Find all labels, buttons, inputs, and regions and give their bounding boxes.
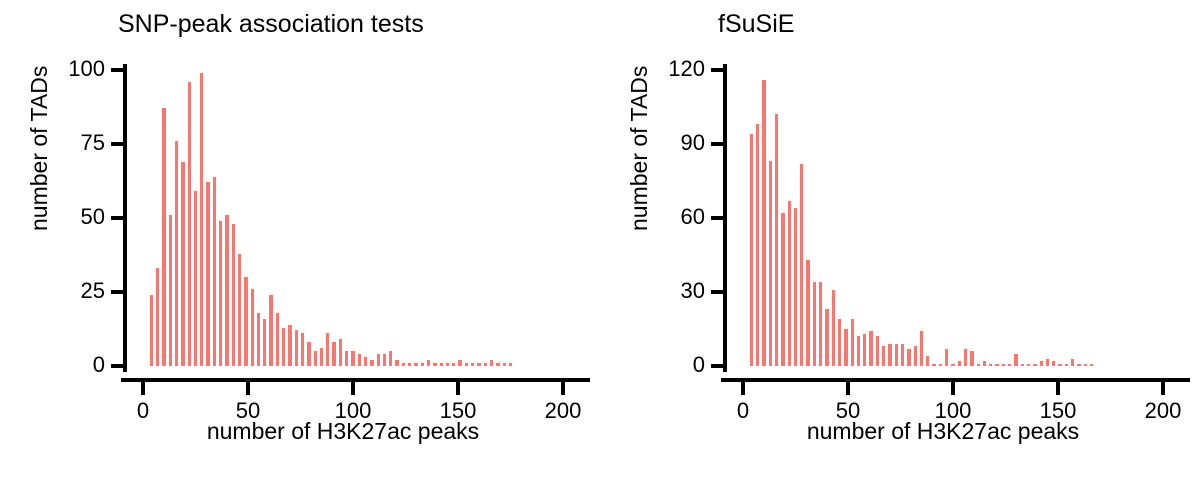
histogram-bar	[351, 351, 354, 366]
histogram-bar	[951, 364, 954, 366]
plot-area: 0306090120050100150200	[600, 0, 1200, 480]
y-axis-tick	[711, 216, 724, 220]
histogram-bar	[150, 295, 153, 366]
histogram-bar	[395, 360, 398, 366]
histogram-bar	[169, 215, 172, 366]
histogram-bar	[882, 346, 885, 366]
histogram-bar	[503, 363, 506, 366]
x-axis-tick-label: 0	[703, 400, 783, 422]
histogram-bar	[1084, 364, 1087, 366]
x-axis-tick-label: 50	[208, 400, 288, 422]
histogram-bar	[452, 363, 455, 366]
histogram-bar	[1033, 364, 1036, 366]
histogram-bar	[1021, 364, 1024, 366]
histogram-bar	[869, 331, 872, 366]
x-axis-tick-label: 100	[913, 400, 993, 422]
histogram-bar	[484, 363, 487, 366]
histogram-bar	[1058, 364, 1061, 366]
histogram-bar	[800, 164, 803, 366]
histogram-bar	[863, 334, 866, 366]
histogram-bar	[471, 363, 474, 366]
y-axis-tick	[711, 68, 724, 72]
x-axis-line	[121, 378, 590, 382]
y-axis-tick	[111, 68, 124, 72]
histogram-bar	[806, 260, 809, 366]
x-axis-tick	[351, 382, 355, 395]
x-axis-tick	[1056, 382, 1060, 395]
histogram-bar	[358, 354, 361, 366]
y-axis-tick-label: 120	[613, 58, 705, 80]
histogram-bar	[427, 360, 430, 366]
histogram-bar	[945, 349, 948, 366]
histogram-bar	[989, 364, 992, 366]
histogram-bar	[225, 215, 228, 366]
panel-snp-peak-association-tests: SNP-peak association tests number of TAD…	[0, 0, 600, 480]
histogram-bar	[1002, 364, 1005, 366]
histogram-bar	[408, 363, 411, 366]
histogram-bar	[939, 364, 942, 366]
histogram-bar	[1014, 354, 1017, 366]
histogram-bar	[219, 221, 222, 366]
x-axis-line	[721, 378, 1190, 382]
histogram-bar	[307, 342, 310, 366]
histogram-bar	[1065, 364, 1068, 366]
y-axis-tick-label: 0	[613, 354, 705, 376]
histogram-bar	[244, 277, 247, 366]
histogram-bar	[232, 224, 235, 366]
x-axis-tick	[456, 382, 460, 395]
histogram-bar	[251, 289, 254, 366]
y-axis-tick-label: 0	[13, 354, 105, 376]
histogram-bar	[458, 360, 461, 366]
histogram-bar	[964, 349, 967, 366]
x-axis-tick	[561, 382, 565, 395]
histogram-bar	[370, 360, 373, 366]
histogram-bar	[509, 363, 512, 366]
x-axis-tick-label: 200	[523, 400, 603, 422]
histogram-bar	[496, 363, 499, 366]
histogram-bar	[832, 290, 835, 366]
histogram-bar	[389, 351, 392, 366]
histogram-bar	[1008, 364, 1011, 366]
histogram-bar	[819, 282, 822, 366]
histogram-bar	[206, 182, 209, 366]
y-axis-tick-label: 60	[613, 206, 705, 228]
histogram-bar	[769, 161, 772, 366]
x-axis-tick	[141, 382, 145, 395]
y-axis-tick	[711, 290, 724, 294]
y-axis-tick-label: 50	[13, 206, 105, 228]
histogram-bar	[421, 363, 424, 366]
y-axis-tick	[111, 216, 124, 220]
y-axis-tick-label: 90	[613, 132, 705, 154]
histogram-bar	[181, 162, 184, 366]
histogram-bar	[876, 336, 879, 366]
histogram-bar	[788, 201, 791, 366]
histogram-bar	[156, 268, 159, 366]
histogram-bar	[301, 333, 304, 366]
histogram-bar	[446, 363, 449, 366]
x-axis-tick-label: 200	[1123, 400, 1200, 422]
x-axis-tick-label: 150	[1018, 400, 1098, 422]
histogram-bar	[926, 356, 929, 366]
histogram-bar	[750, 134, 753, 366]
histogram-bar	[377, 354, 380, 366]
histogram-bar	[282, 328, 285, 366]
y-axis-tick	[111, 290, 124, 294]
x-axis-tick	[741, 382, 745, 395]
histogram-bar	[844, 329, 847, 366]
x-axis-tick-label: 100	[313, 400, 393, 422]
y-axis-tick-label: 30	[613, 280, 705, 302]
histogram-bar	[269, 295, 272, 366]
histogram-bar	[1077, 364, 1080, 366]
x-axis-tick-label: 0	[103, 400, 183, 422]
x-axis-tick	[1161, 382, 1165, 395]
x-axis-tick-label: 150	[418, 400, 498, 422]
histogram-bar	[907, 349, 910, 366]
histogram-bar	[320, 348, 323, 366]
histogram-bar	[194, 191, 197, 366]
histogram-bar	[813, 282, 816, 366]
histogram-bar	[402, 363, 405, 366]
histogram-bar	[920, 331, 923, 366]
y-axis-tick	[711, 142, 724, 146]
histogram-bar	[295, 330, 298, 366]
histogram-bar	[345, 351, 348, 366]
histogram-bar	[1027, 364, 1030, 366]
histogram-bar	[1052, 361, 1055, 366]
histogram-bar	[756, 124, 759, 366]
plot-area: 0255075100050100150200	[0, 0, 600, 480]
histogram-bar	[983, 361, 986, 366]
histogram-bar	[932, 364, 935, 366]
histogram-bar	[1046, 359, 1049, 366]
histogram-bar	[838, 319, 841, 366]
histogram-bar	[465, 363, 468, 366]
histogram-bar	[794, 208, 797, 366]
histogram-bar	[162, 108, 165, 366]
figure-root: SNP-peak association tests number of TAD…	[0, 0, 1200, 480]
histogram-bar	[970, 351, 973, 366]
histogram-bar	[257, 313, 260, 366]
y-axis-tick-label: 75	[13, 132, 105, 154]
histogram-bar	[857, 336, 860, 366]
histogram-bar	[276, 313, 279, 366]
histogram-bar	[895, 344, 898, 366]
histogram-bar	[364, 357, 367, 366]
histogram-bar	[958, 361, 961, 366]
histogram-bar	[977, 364, 980, 366]
histogram-bar	[332, 342, 335, 366]
histogram-bar	[825, 309, 828, 366]
y-axis-tick-label: 25	[13, 280, 105, 302]
y-axis-tick-label: 100	[13, 58, 105, 80]
y-axis-tick	[111, 364, 124, 368]
histogram-bar	[775, 114, 778, 366]
histogram-bar	[175, 141, 178, 366]
histogram-bar	[477, 363, 480, 366]
histogram-bar	[288, 325, 291, 366]
histogram-bar	[339, 339, 342, 366]
x-axis-tick	[246, 382, 250, 395]
histogram-bar	[200, 73, 203, 366]
histogram-bar	[326, 333, 329, 366]
histogram-bar	[995, 364, 998, 366]
y-axis-tick	[711, 364, 724, 368]
panel-fsusie: fSuSiE number of TADs number of H3K27ac …	[600, 0, 1200, 480]
histogram-bar	[490, 360, 493, 366]
histogram-bar	[440, 363, 443, 366]
histogram-bar	[263, 319, 266, 366]
x-axis-tick-label: 50	[808, 400, 888, 422]
y-axis-tick	[111, 142, 124, 146]
histogram-bar	[851, 319, 854, 366]
histogram-bar	[1090, 364, 1093, 366]
histogram-bar	[1040, 361, 1043, 366]
histogram-bar	[383, 354, 386, 366]
x-axis-tick	[846, 382, 850, 395]
histogram-bar	[188, 82, 191, 366]
histogram-bar	[314, 351, 317, 366]
histogram-bar	[914, 346, 917, 366]
histogram-bar	[781, 213, 784, 366]
histogram-bar	[414, 363, 417, 366]
histogram-bar	[901, 344, 904, 366]
histogram-bar	[888, 344, 891, 366]
histogram-bar	[762, 80, 765, 366]
histogram-bar	[238, 254, 241, 366]
histogram-bar	[1071, 359, 1074, 366]
x-axis-tick	[951, 382, 955, 395]
histogram-bar	[213, 177, 216, 366]
histogram-bar	[433, 363, 436, 366]
